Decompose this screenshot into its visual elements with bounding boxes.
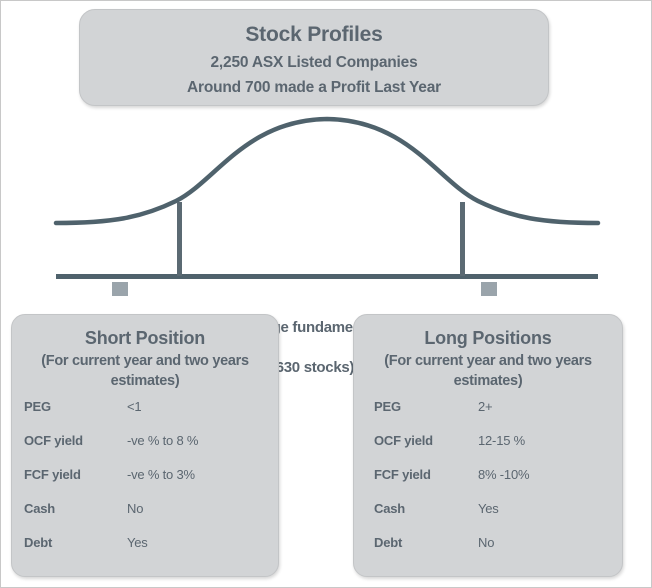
divider-left bbox=[177, 202, 182, 276]
down-arrow-icon-left bbox=[105, 282, 135, 296]
page-title: Stock Profiles bbox=[80, 20, 548, 50]
metric-label: Debt bbox=[354, 535, 472, 550]
long-positions-panel: Long Positions (For current year and two… bbox=[353, 314, 623, 577]
metric-value: <1 bbox=[127, 399, 141, 414]
metric-label: OCF yield bbox=[12, 433, 127, 448]
diagram-page: Stock Profiles 2,250 ASX Listed Companie… bbox=[0, 0, 652, 588]
down-arrow-icon-right bbox=[474, 282, 504, 296]
baseline-axis bbox=[56, 274, 598, 279]
metric-value: Yes bbox=[472, 501, 499, 516]
short-position-metrics: PEG <1 OCF yield -ve % to 8 % FCF yield … bbox=[12, 399, 278, 569]
metric-value: -ve % to 8 % bbox=[127, 433, 198, 448]
metric-row: OCF yield 12-15 % bbox=[354, 433, 622, 467]
metric-row: Debt No bbox=[354, 535, 622, 569]
metric-label: FCF yield bbox=[12, 467, 127, 482]
metric-label: OCF yield bbox=[354, 433, 472, 448]
metric-row: OCF yield -ve % to 8 % bbox=[12, 433, 278, 467]
metric-row: Debt Yes bbox=[12, 535, 278, 569]
title-subline-companies: 2,250 ASX Listed Companies bbox=[80, 50, 548, 75]
metric-row: PEG <1 bbox=[12, 399, 278, 433]
metric-label: PEG bbox=[12, 399, 127, 414]
title-subline-profit: Around 700 made a Profit Last Year bbox=[80, 75, 548, 100]
metric-value: Yes bbox=[127, 535, 148, 550]
metric-value: 8% -10% bbox=[472, 467, 529, 482]
distribution-curve bbox=[56, 119, 598, 223]
metric-label: Debt bbox=[12, 535, 127, 550]
metric-value: -ve % to 3% bbox=[127, 467, 195, 482]
long-positions-metrics: PEG 2+ OCF yield 12-15 % FCF yield 8% -1… bbox=[354, 399, 622, 569]
metric-row: Cash No bbox=[12, 501, 278, 535]
metric-value: 2+ bbox=[472, 399, 492, 414]
stock-profiles-title-panel: Stock Profiles 2,250 ASX Listed Companie… bbox=[79, 9, 549, 106]
metric-row: FCF yield -ve % to 3% bbox=[12, 467, 278, 501]
short-position-heading: Short Position bbox=[12, 315, 278, 351]
short-position-panel: Short Position (For current year and two… bbox=[11, 314, 279, 577]
long-positions-heading: Long Positions bbox=[354, 315, 622, 351]
metric-label: Cash bbox=[354, 501, 472, 516]
curve-label-average-count: (630 stocks) bbox=[271, 359, 354, 376]
metric-value: 12-15 % bbox=[472, 433, 525, 448]
metric-row: PEG 2+ bbox=[354, 399, 622, 433]
bell-curve-svg bbox=[1, 106, 652, 296]
metric-label: FCF yield bbox=[354, 467, 472, 482]
metric-row: FCF yield 8% -10% bbox=[354, 467, 622, 501]
metric-row: Cash Yes bbox=[354, 501, 622, 535]
bell-curve-diagram: Average fundamentals (630 stocks) Bad (3… bbox=[1, 106, 652, 296]
metric-value: No bbox=[472, 535, 494, 550]
metric-label: PEG bbox=[354, 399, 472, 414]
metric-value: No bbox=[127, 501, 143, 516]
long-positions-subheading: (For current year and two years estimate… bbox=[354, 351, 622, 391]
metric-label: Cash bbox=[12, 501, 127, 516]
divider-right bbox=[460, 202, 465, 276]
short-position-subheading: (For current year and two years estimate… bbox=[12, 351, 278, 391]
